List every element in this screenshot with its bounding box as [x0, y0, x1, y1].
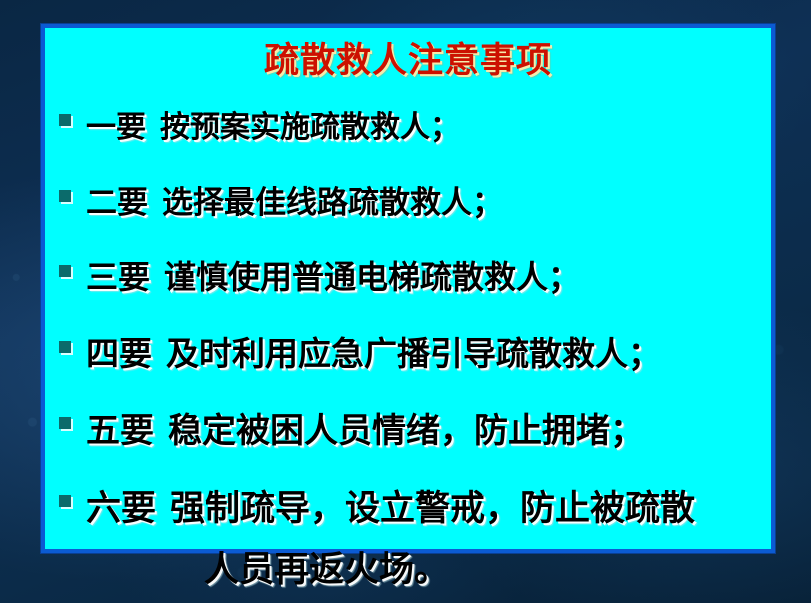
square-bullet-icon: [59, 265, 71, 277]
list-item: 六要强制疏导，设立警戒，防止被疏散: [59, 480, 763, 531]
list-item-text: 一要按预案实施疏散救人；: [86, 102, 763, 146]
bullet-list: 一要按预案实施疏散救人； 二要选择最佳线路疏散救人； 三要谨慎使用普通电梯疏散救…: [59, 102, 763, 592]
list-item-text: 五要稳定被困人员情绪，防止拥堵；: [86, 403, 763, 452]
slide-content-panel: 疏散救人注意事项 一要按预案实施疏散救人； 二要选择最佳线路疏散救人； 三要谨慎…: [41, 24, 775, 553]
list-item: 四要及时利用应急广播引导疏散救人；: [59, 327, 763, 375]
page-title: 疏散救人注意事项: [45, 42, 771, 81]
list-item: 三要谨慎使用普通电梯疏散救人；: [59, 252, 763, 298]
list-item-label: 五要: [86, 411, 154, 451]
presentation-slide: 疏散救人注意事项 一要按预案实施疏散救人； 二要选择最佳线路疏散救人； 三要谨慎…: [0, 0, 811, 603]
list-item: 二要选择最佳线路疏散救人；: [59, 177, 763, 222]
list-item-text: 三要谨慎使用普通电梯疏散救人；: [86, 252, 763, 298]
list-item-text: 六要强制疏导，设立警戒，防止被疏散: [86, 480, 763, 531]
square-bullet-icon: [59, 190, 71, 202]
square-bullet-icon: [59, 341, 71, 353]
list-item: 五要稳定被困人员情绪，防止拥堵；: [59, 403, 763, 452]
square-bullet-icon: [59, 114, 71, 126]
list-item-label: 四要: [86, 334, 152, 373]
list-item-label: 六要: [86, 488, 156, 529]
list-item-body: 选择最佳线路疏散救人；: [162, 185, 503, 221]
list-item-text: 二要选择最佳线路疏散救人；: [86, 177, 763, 222]
list-item: 一要按预案实施疏散救人；: [59, 102, 763, 146]
list-item-text: 四要及时利用应急广播引导疏散救人；: [86, 327, 763, 375]
list-item-label: 一要: [86, 110, 146, 145]
list-item-body: 及时利用应急广播引导疏散救人；: [166, 334, 661, 373]
list-item-continuation: 人员再返火场。: [204, 541, 763, 592]
list-item-body: 稳定被困人员情绪，防止拥堵；: [168, 411, 644, 451]
list-item-label: 二要: [86, 185, 148, 221]
list-item-body: 按预案实施疏散救人；: [160, 110, 460, 145]
square-bullet-icon: [59, 495, 71, 507]
list-item-body: 谨慎使用普通电梯疏散救人；: [164, 258, 580, 296]
square-bullet-icon: [59, 417, 71, 429]
list-item-label: 三要: [86, 258, 150, 296]
list-item-body: 强制疏导，设立警戒，防止被疏散: [170, 488, 695, 529]
